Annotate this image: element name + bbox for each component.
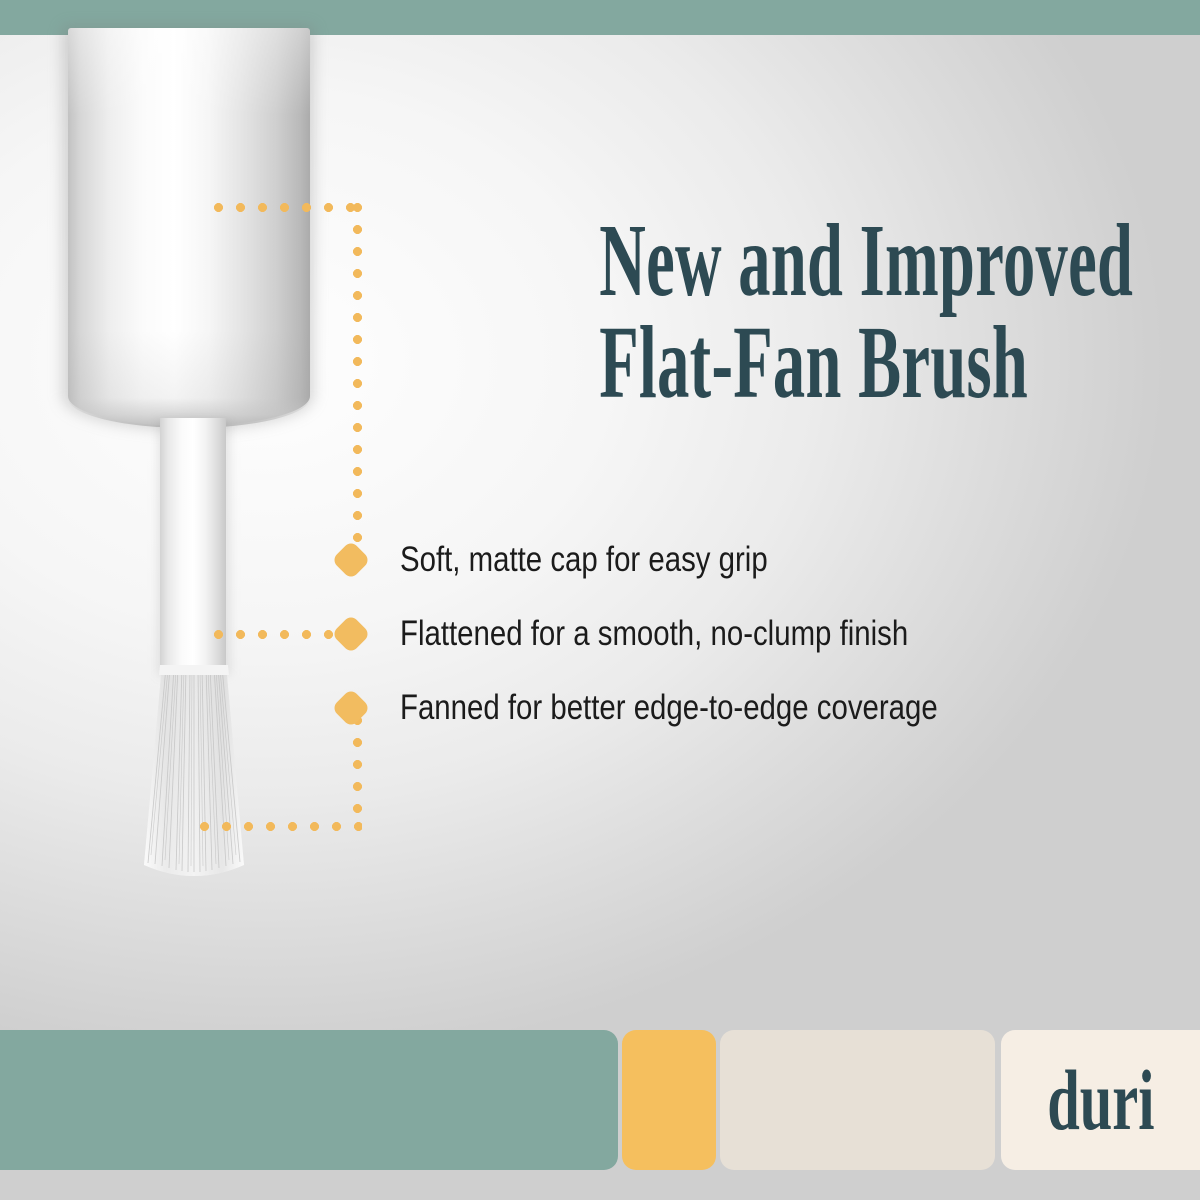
list-item: Soft, matte cap for easy grip <box>400 534 1160 608</box>
dotted-line-to-bristles <box>200 822 362 831</box>
cap-sheen-overlay <box>68 28 310 426</box>
brush-bristles <box>132 665 256 895</box>
footer-block-green <box>0 1030 618 1170</box>
footer-block-amber <box>622 1030 716 1170</box>
dotted-line-to-cap <box>214 203 362 212</box>
headline-line-1: New and Improved <box>599 210 1021 312</box>
poster-canvas: New and Improved Flat-Fan Brush Soft, ma… <box>0 0 1200 1200</box>
brand-logo-text: duri <box>1047 1057 1154 1143</box>
feature-text-2: Flattened for a smooth, no-clump finish <box>400 612 908 656</box>
list-item: Flattened for a smooth, no-clump finish <box>400 608 1160 682</box>
headline-line-2: Flat-Fan Brush <box>599 312 1021 414</box>
feature-list: Soft, matte cap for easy grip Flattened … <box>400 534 1160 756</box>
feature-text-3: Fanned for better edge-to-edge coverage <box>400 686 938 730</box>
dotted-line-vertical-lower <box>353 716 362 828</box>
footer-block-beige <box>720 1030 995 1170</box>
page-title: New and Improved Flat-Fan Brush <box>599 210 1021 414</box>
dotted-line-vertical <box>353 203 362 548</box>
brand-logo: duri <box>1001 1030 1200 1170</box>
feature-text-1: Soft, matte cap for easy grip <box>400 538 768 582</box>
product-photo <box>0 0 400 960</box>
list-item: Fanned for better edge-to-edge coverage <box>400 682 1160 756</box>
